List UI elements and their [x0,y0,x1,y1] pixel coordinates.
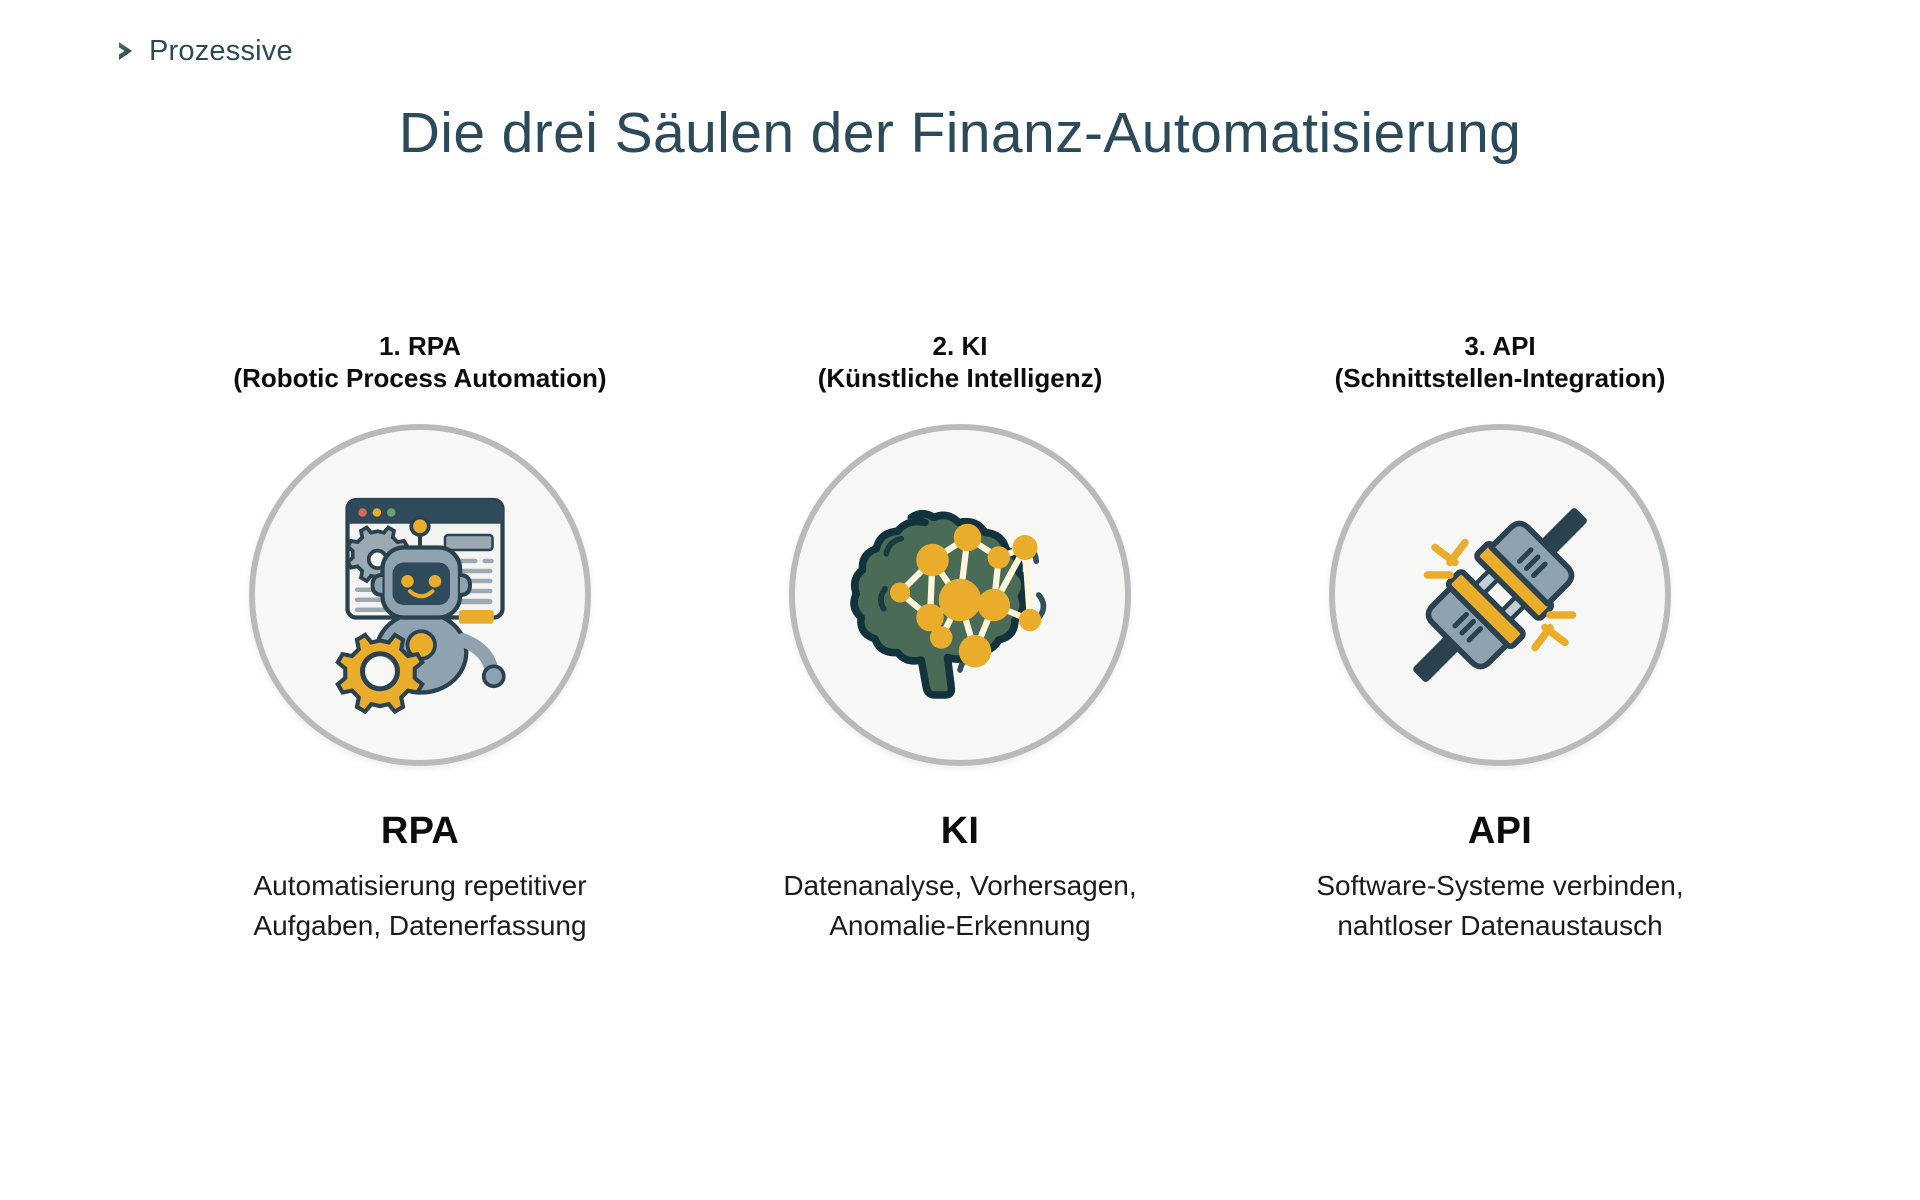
pillar-rpa-subtitle: (Robotic Process Automation) [233,362,606,394]
chevron-right-icon [112,36,142,66]
brain-neural-network-icon [835,470,1085,720]
pillar-rpa-index: 1. RPA [379,331,461,361]
pillar-rpa-caption-title: RPA [381,812,459,850]
pillar-api-caption-desc: Software-Systeme verbinden, nahtloser Da… [1300,866,1700,946]
pillar-rpa-caption-desc: Automatisierung repetitiver Aufgaben, Da… [220,866,620,946]
slide-root: Prozessive Die drei Säulen der Finanz-Au… [0,0,1920,1200]
pillar-api-badge [1329,424,1671,766]
pillar-rpa-badge [249,424,591,766]
brand-logo: Prozessive [112,36,293,66]
page-title: Die drei Säulen der Finanz-Automatisieru… [0,100,1920,166]
pillar-ki-index: 2. KI [933,331,988,361]
robot-automation-icon [295,470,545,720]
pillar-api-heading: 3. API (Schnittstellen-Integration) [1335,330,1666,394]
pillar-ki-subtitle: (Künstliche Intelligenz) [818,362,1103,394]
pillar-ki-caption-desc: Datenanalyse, Vorhersagen, Anomalie-Erke… [760,866,1160,946]
plug-connector-icon [1375,470,1625,720]
pillar-ki-caption-title: KI [941,812,980,850]
pillar-ki-heading: 2. KI (Künstliche Intelligenz) [818,330,1103,394]
pillar-ki-badge [789,424,1131,766]
pillar-api-subtitle: (Schnittstellen-Integration) [1335,362,1666,394]
pillar-api-index: 3. API [1464,331,1535,361]
pillar-ki: 2. KI (Künstliche Intelligenz) [700,330,1220,946]
pillar-api: 3. API (Schnittstellen-Integration) [1240,330,1760,946]
pillars-row: 1. RPA (Robotic Process Automation) [160,330,1760,946]
brand-name: Prozessive [149,37,293,66]
pillar-rpa: 1. RPA (Robotic Process Automation) [160,330,680,946]
pillar-api-caption-title: API [1468,812,1532,850]
pillar-rpa-heading: 1. RPA (Robotic Process Automation) [233,330,606,394]
